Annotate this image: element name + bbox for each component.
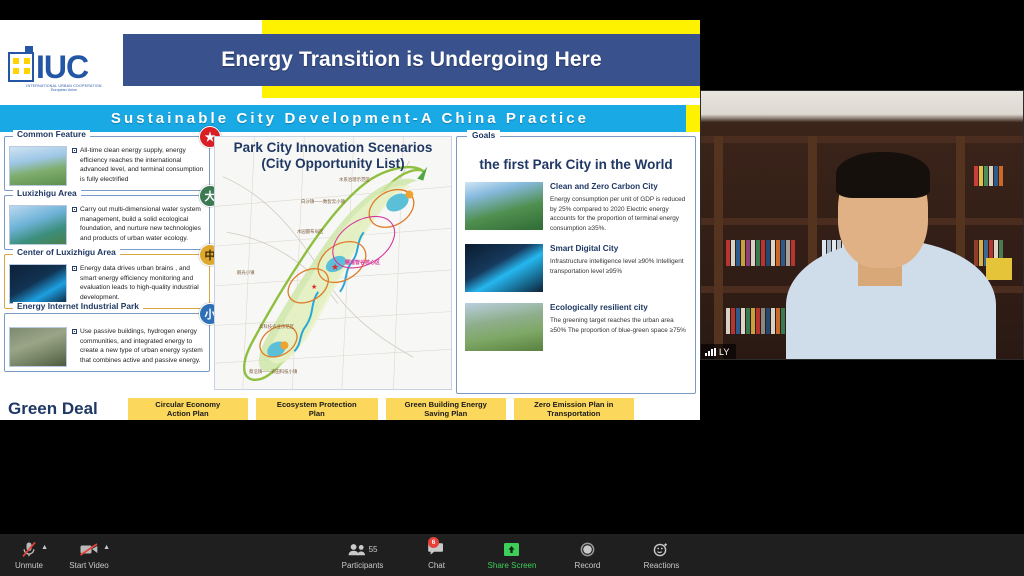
record-icon bbox=[580, 540, 595, 558]
map-title-line-1: Park City Innovation Scenarios bbox=[215, 140, 451, 156]
participants-button[interactable]: 55 Participants bbox=[340, 540, 386, 570]
subtitle-band: Sustainable City Development-A China Pra… bbox=[0, 105, 700, 132]
green-deal-button-circular-economy[interactable]: Circular Economy Action Plan bbox=[128, 398, 248, 420]
map-star-marker-icon: ★ bbox=[331, 262, 339, 273]
goal-text: Energy consumption per unit of GDP is re… bbox=[550, 195, 687, 233]
feature-title: Luxizhigu Area bbox=[13, 189, 81, 199]
subtitle-accent bbox=[686, 105, 700, 132]
feature-thumbnail bbox=[9, 146, 67, 186]
reactions-button[interactable]: Reactions bbox=[638, 540, 684, 570]
chat-button[interactable]: 6 Chat bbox=[414, 540, 460, 570]
reactions-label: Reactions bbox=[644, 561, 680, 570]
logo-wordmark: IUC bbox=[36, 53, 88, 82]
feature-list: Common Feature ★ All-time clean energy s… bbox=[4, 136, 210, 376]
feature-text: Use passive buildings, hydrogen energy c… bbox=[80, 327, 205, 365]
button-line-1: Green Building Energy bbox=[405, 400, 487, 409]
bullet-square-icon bbox=[72, 266, 77, 271]
feature-box-common-feature: Common Feature ★ All-time clean energy s… bbox=[4, 136, 210, 191]
zoom-toolbar: ▲ Unmute ▲ Start Video bbox=[0, 534, 1024, 576]
share-screen-button[interactable]: Share Screen bbox=[488, 540, 537, 570]
participant-video-tile[interactable]: LY bbox=[700, 90, 1024, 360]
green-deal-title: Green Deal bbox=[8, 399, 98, 419]
reactions-icon bbox=[653, 540, 669, 558]
green-deal-button-green-building-energy[interactable]: Green Building Energy Saving Plan bbox=[386, 398, 506, 420]
participants-label: Participants bbox=[342, 561, 384, 570]
feature-title: Common Feature bbox=[13, 130, 90, 140]
map-star-marker-icon: ★ bbox=[311, 283, 317, 291]
header-accent-bottom bbox=[262, 86, 700, 98]
record-label: Record bbox=[575, 561, 601, 570]
button-line-2: Plan bbox=[309, 409, 325, 418]
slide-body: Common Feature ★ All-time clean energy s… bbox=[0, 132, 700, 398]
feature-thumbnail bbox=[9, 205, 67, 245]
map-label: 鹅光小镇 bbox=[237, 270, 255, 276]
subtitle-text: Sustainable City Development-A China Pra… bbox=[111, 110, 589, 127]
building-icon bbox=[8, 52, 34, 82]
bullet-square-icon bbox=[72, 148, 77, 153]
goal-title: Clean and Zero Carbon City bbox=[550, 182, 687, 191]
goal-text: The greening target reaches the urban ar… bbox=[550, 316, 687, 335]
feature-title: Energy Internet Industrial Park bbox=[13, 302, 143, 312]
button-line-2: Saving Plan bbox=[424, 409, 467, 418]
map-label-highlight: 麓道智谷核心区 bbox=[345, 259, 380, 266]
goal-item-smart-digital-city: Smart Digital City Infrastructure intell… bbox=[465, 244, 687, 292]
slide-header: Energy Transition is Undergoing Here IUC… bbox=[0, 20, 700, 88]
green-deal-button-ecosystem-protection[interactable]: Ecosystem Protection Plan bbox=[256, 398, 378, 420]
iuc-logo: IUC INTERNATIONAL URBAN COOPERATION Euro… bbox=[8, 48, 120, 98]
map-panel: Park City Innovation Scenarios (City Opp… bbox=[214, 136, 452, 390]
button-line-2: Transportation bbox=[547, 409, 600, 418]
button-line-1: Circular Economy bbox=[155, 400, 220, 409]
share-screen-label: Share Screen bbox=[488, 561, 537, 570]
chat-icon: 6 bbox=[428, 540, 445, 558]
map-title-line-2: (City Opportunity List) bbox=[215, 156, 451, 172]
chat-unread-badge: 6 bbox=[428, 537, 439, 548]
participants-icon: 55 bbox=[348, 540, 378, 558]
map-label: 高科技农业示范区 bbox=[259, 324, 294, 330]
feature-text: Energy data drives urban brains , and sm… bbox=[80, 264, 205, 302]
feature-thumbnail bbox=[9, 327, 67, 367]
logo-mark: IUC bbox=[8, 48, 120, 82]
goals-headline: the first Park City in the World bbox=[465, 157, 687, 172]
shared-slide: Energy Transition is Undergoing Here IUC… bbox=[0, 20, 700, 420]
feature-thumbnail bbox=[9, 264, 67, 304]
zoom-meeting-window: Energy Transition is Undergoing Here IUC… bbox=[0, 0, 1024, 576]
goal-item-ecologically-resilient-city: Ecologically resilient city The greening… bbox=[465, 303, 687, 351]
goal-text: Infrastructure intelligence level ≥90% I… bbox=[550, 257, 687, 276]
feature-text: All-time clean energy supply, energy eff… bbox=[80, 146, 205, 184]
map-label: 水园震布局区 bbox=[297, 229, 323, 235]
goal-title: Ecologically resilient city bbox=[550, 303, 687, 312]
bullet-square-icon bbox=[72, 329, 77, 334]
feature-box-luxizhigu-area: Luxizhigu Area 大 Carry out multi-dimensi… bbox=[4, 195, 210, 250]
goal-thumbnail bbox=[465, 303, 543, 351]
feature-text: Carry out multi-dimensional water system… bbox=[80, 205, 205, 243]
goals-panel: Goals the first Park City in the World C… bbox=[456, 136, 696, 394]
button-line-1: Zero Emission Plan in bbox=[534, 400, 613, 409]
map-label: 白沙镇——数智云小镇 bbox=[301, 199, 345, 205]
header-accent-top bbox=[262, 20, 700, 35]
green-deal-bar: Green Deal Circular Economy Action Plan … bbox=[0, 398, 700, 420]
button-line-2: Action Plan bbox=[167, 409, 209, 418]
bullet-square-icon bbox=[72, 207, 77, 212]
toolbar-center-group: 55 Participants 6 Chat bbox=[0, 540, 1024, 570]
goal-thumbnail bbox=[465, 244, 543, 292]
video-tile-border bbox=[700, 90, 1024, 360]
feature-title: Center of Luxizhigu Area bbox=[13, 248, 120, 258]
feature-box-energy-internet-industrial-park: Energy Internet Industrial Park 小 Use pa… bbox=[4, 313, 210, 372]
participants-count: 55 bbox=[369, 545, 378, 554]
slide-title: Energy Transition is Undergoing Here bbox=[123, 34, 700, 86]
button-line-1: Ecosystem Protection bbox=[277, 400, 357, 409]
goal-thumbnail bbox=[465, 182, 543, 230]
record-button[interactable]: Record bbox=[564, 540, 610, 570]
map-label: 水系治理示范区 bbox=[339, 177, 370, 183]
green-deal-button-zero-emission-transportation[interactable]: Zero Emission Plan in Transportation bbox=[514, 398, 634, 420]
map-title: Park City Innovation Scenarios (City Opp… bbox=[215, 137, 451, 172]
share-screen-icon bbox=[503, 540, 520, 558]
map-label: 蔡沿镇——农田科技小镇 bbox=[249, 369, 297, 375]
goal-item-clean-zero-carbon: Clean and Zero Carbon City Energy consum… bbox=[465, 182, 687, 233]
goals-panel-label: Goals bbox=[467, 130, 500, 140]
chat-label: Chat bbox=[428, 561, 445, 570]
goal-title: Smart Digital City bbox=[550, 244, 687, 253]
logo-caption-2: European Union bbox=[8, 88, 120, 92]
